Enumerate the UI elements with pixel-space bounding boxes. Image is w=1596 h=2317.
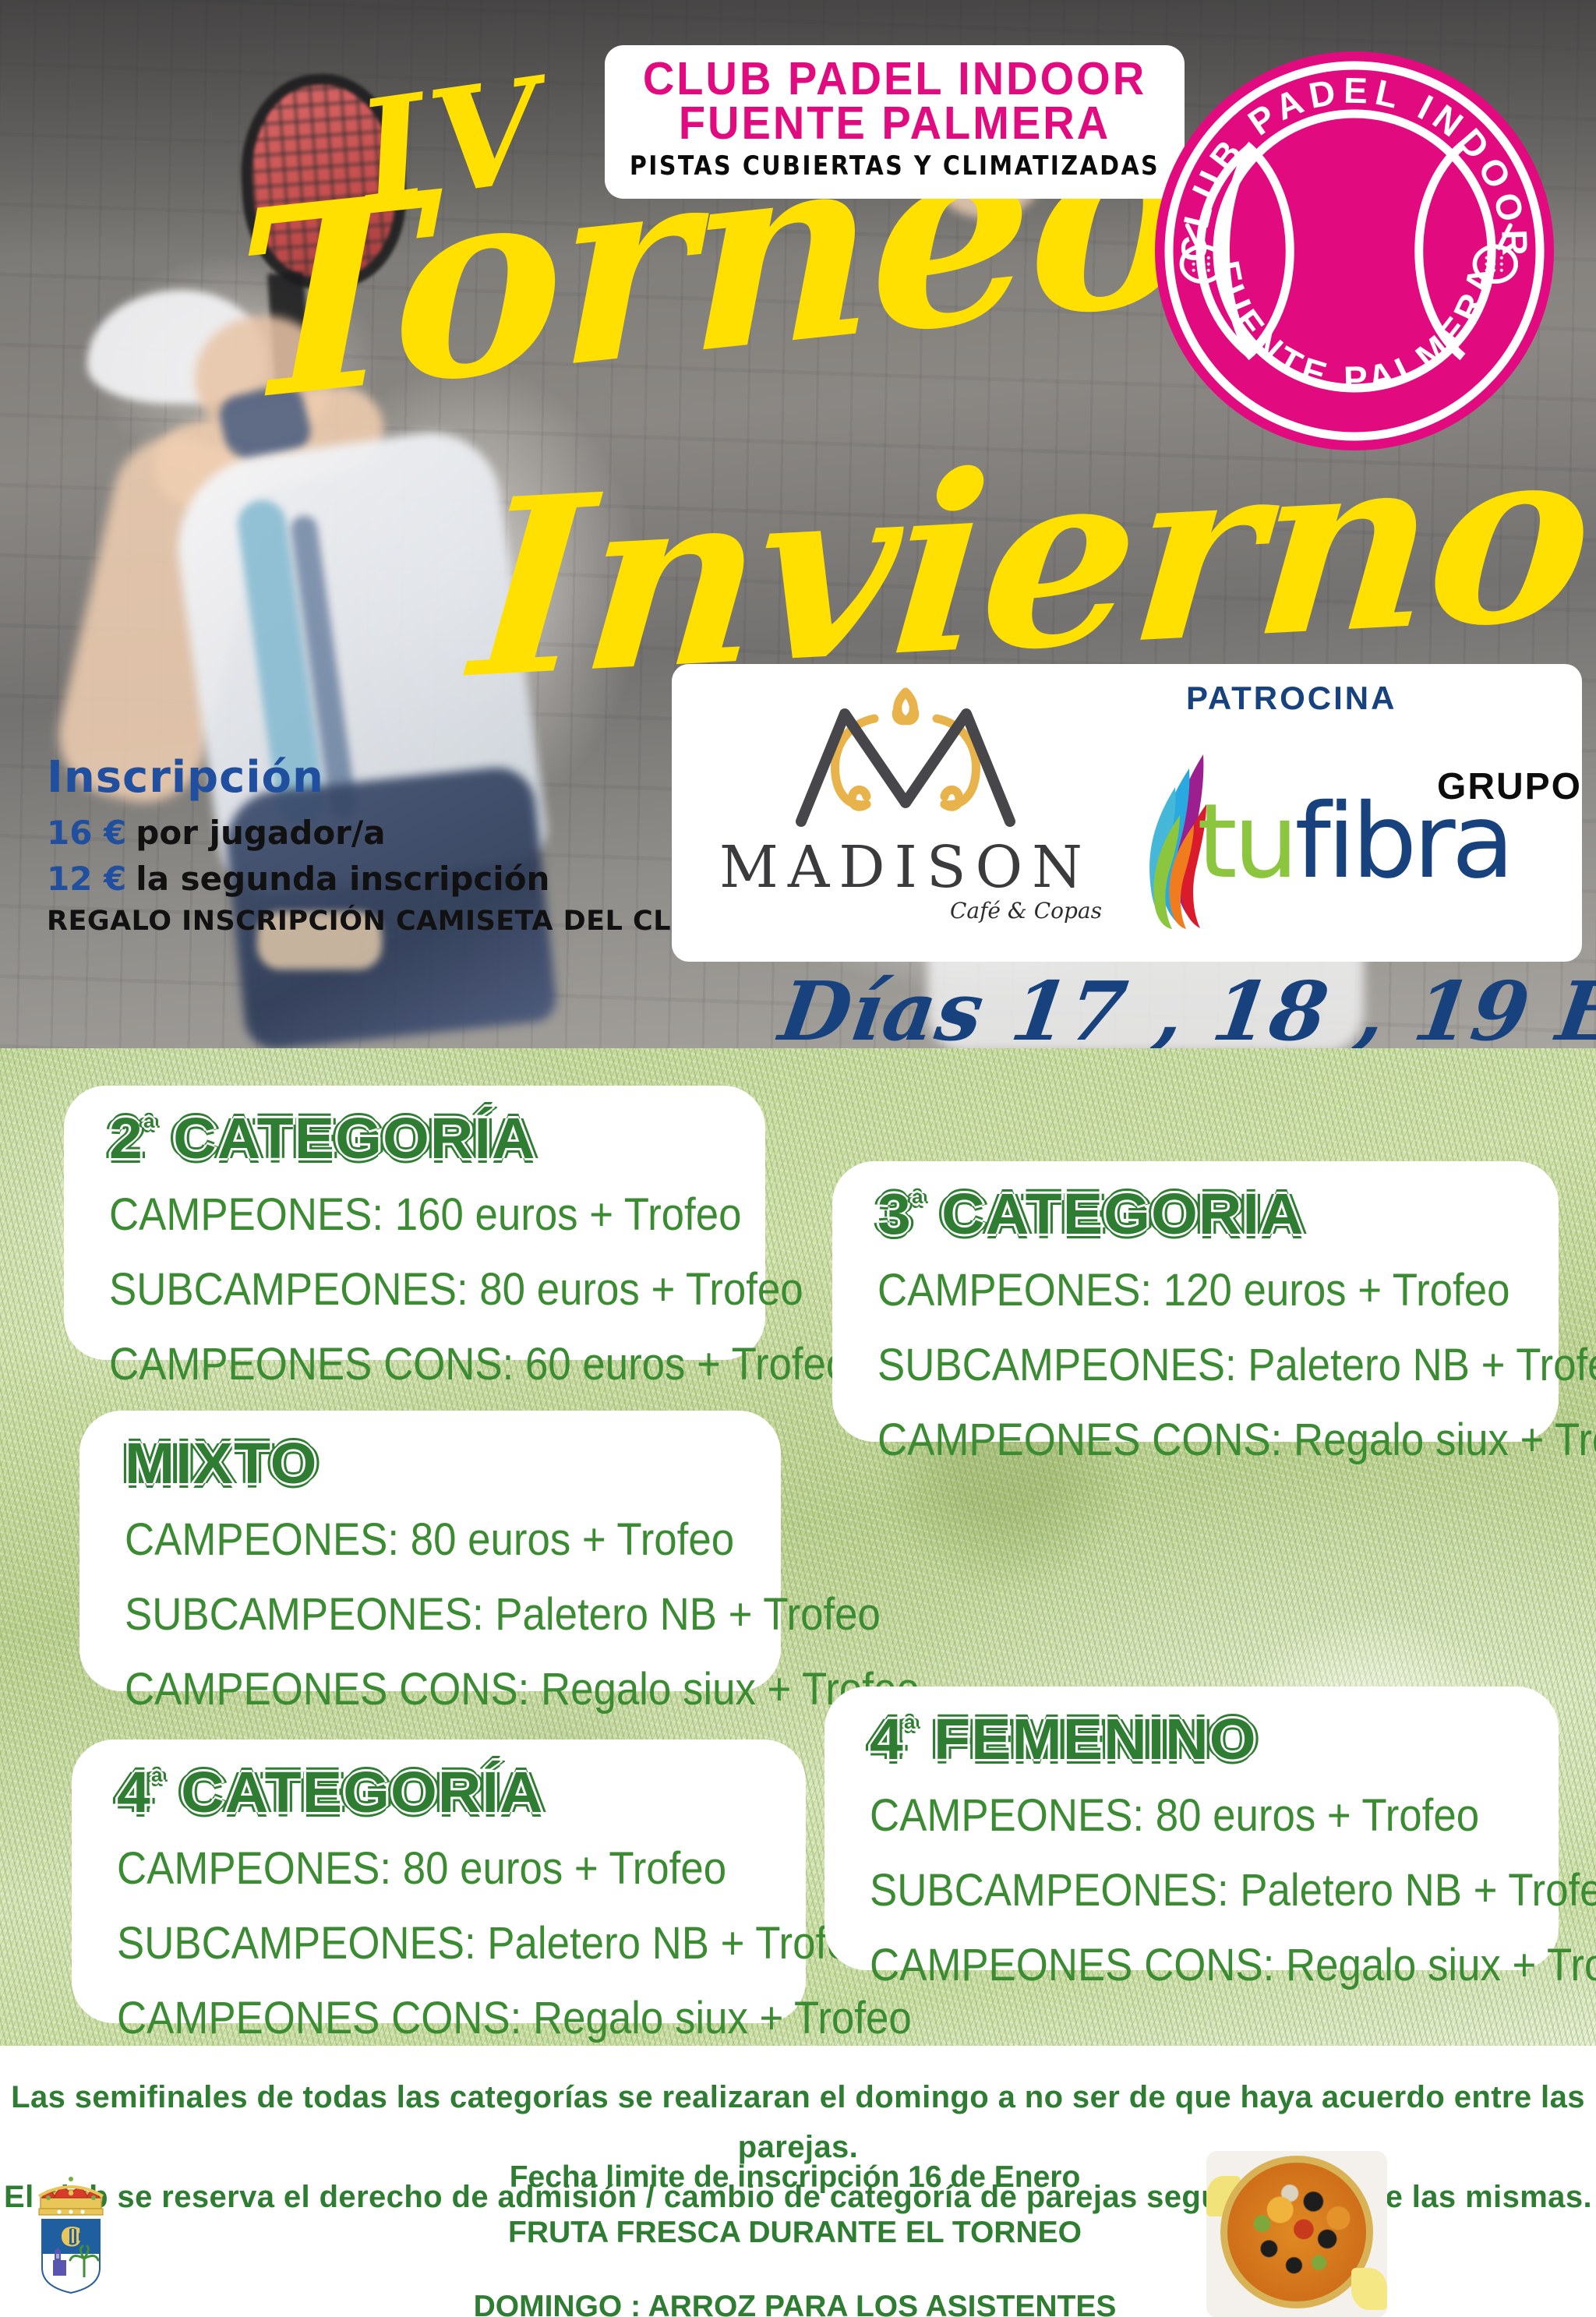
- inscription-row-1: 16 €por jugador/a: [47, 814, 584, 852]
- prize-line: SUBCAMPEONES: 80 euros + Trofeo: [109, 1264, 697, 1315]
- inscription-heading: Inscripción: [47, 752, 584, 803]
- category-card-4a-femenino: 4ª FEMENINO CAMPEONES: 80 euros + Trofeo…: [824, 1687, 1559, 1970]
- prize-line: CAMPEONES CONS: Regalo siux + Trofeo: [125, 1664, 713, 1715]
- inscription-text-2: la segunda inscripción: [136, 860, 549, 898]
- inscription-row-2: 12 €la segunda inscripción: [47, 860, 584, 898]
- tufibra-logo: tufibra GRUPO: [1128, 750, 1573, 945]
- prize-line: CAMPEONES CONS: Regalo siux + Trofeo: [870, 1940, 1489, 1990]
- footer-sunday-rice: DOMINGO : ARROZ PARA LOS ASISTENTES: [421, 2291, 1169, 2317]
- paella-photo: [1206, 2151, 1387, 2317]
- footer-deadline: Fecha limite de inscripción 16 de Enero: [421, 2161, 1169, 2195]
- paella-pan: [1220, 2156, 1373, 2308]
- hero-photo-section: IV Torneo Invierno CLUB PADEL INDOOR FUE…: [0, 0, 1596, 1048]
- category-title-3a: 3ª CATEGORIA: [877, 1185, 1541, 1243]
- category-card-4a: 4ª CATEGORÍA CAMPEONES: 80 euros + Trofe…: [72, 1740, 806, 2023]
- madison-wordmark: MADISON: [687, 839, 1124, 896]
- footer-info-block: Fecha limite de inscripción 16 de Enero …: [421, 2161, 1169, 2317]
- prize-line: CAMPEONES CONS: Regalo siux + Trofeo: [117, 1993, 736, 2043]
- club-name-line-1: CLUB PADEL INDOOR: [617, 55, 1172, 102]
- category-title-4a: 4ª CATEGORÍA: [117, 1763, 788, 1821]
- tufibra-grupo-label: GRUPO: [1437, 765, 1582, 808]
- category-title-2a: 2ª CATEGORÍA: [109, 1109, 746, 1167]
- prize-line: SUBCAMPEONES: Paletero NB + Trofeo: [117, 1918, 736, 1969]
- inscription-amount-1: 16 €: [47, 814, 126, 852]
- lemon-wedge: [1351, 2268, 1387, 2310]
- prize-line: CAMPEONES: 160 euros + Trofeo: [109, 1190, 697, 1241]
- category-title-mixto: MIXTO: [125, 1434, 761, 1492]
- club-name-box: CLUB PADEL INDOOR FUENTE PALMERA PISTAS …: [605, 45, 1185, 199]
- poster-root: IV Torneo Invierno CLUB PADEL INDOOR FUE…: [0, 0, 1596, 2317]
- footer-fruit: FRUTA FRESCA DURANTE EL TORNEO: [421, 2216, 1169, 2250]
- prize-line: SUBCAMPEONES: Paletero NB + Trofeo: [125, 1589, 713, 1640]
- prize-line: CAMPEONES: 80 euros + Trofeo: [117, 1844, 736, 1895]
- club-name-line-2: FUENTE PALMERA: [617, 99, 1172, 147]
- category-card-mixto: MIXTO CAMPEONES: 80 euros + Trofeo SUBCA…: [79, 1411, 781, 1691]
- prize-line: CAMPEONES: 120 euros + Trofeo: [877, 1266, 1489, 1316]
- prize-line: SUBCAMPEONES: Paletero NB + Trofeo: [877, 1340, 1489, 1390]
- inscription-amount-2: 12 €: [47, 860, 126, 898]
- tufibra-word-tu: tu: [1197, 782, 1294, 902]
- prize-line: CAMPEONES CONS: Regalo siux + Trofeo: [877, 1415, 1489, 1465]
- fuente-palmera-coat-of-arms-icon: C: [22, 2174, 120, 2301]
- club-tagline: PISTAS CUBIERTAS Y CLIMATIZADAS: [617, 151, 1172, 182]
- prize-line: CAMPEONES CONS: 60 euros + Trofeo: [109, 1339, 697, 1390]
- category-card-3a: 3ª CATEGORIA CAMPEONES: 120 euros + Trof…: [832, 1161, 1559, 1442]
- inscription-text-1: por jugador/a: [136, 814, 385, 852]
- inscription-block: Inscripción 16 €por jugador/a 12 €la seg…: [47, 752, 584, 937]
- madison-logo: MADISON Café & Copas: [687, 678, 1124, 951]
- madison-monogram-icon: [757, 678, 1054, 843]
- madison-tagline: Café & Copas: [687, 898, 1124, 924]
- prize-line: CAMPEONES: 80 euros + Trofeo: [125, 1515, 713, 1566]
- club-circular-logo-icon: CLUB PADEL INDOOR FUENTE PALMERA: [1152, 48, 1557, 454]
- sponsor-panel: PATROCINA MADISON Café: [672, 664, 1582, 962]
- patrocina-label: PATROCINA: [1186, 680, 1396, 717]
- prize-line: SUBCAMPEONES: Paletero NB + Trofeo: [870, 1865, 1489, 1916]
- inscription-gift-note: REGALO INSCRIPCIÓN CAMISETA DEL CLUB: [47, 906, 584, 937]
- tournament-dates: Días 17 , 18 , 19 Enero: [774, 963, 1596, 1048]
- category-card-2a: 2ª CATEGORÍA CAMPEONES: 160 euros + Trof…: [64, 1086, 765, 1360]
- category-title-4a-femenino: 4ª FEMENINO: [870, 1710, 1541, 1768]
- prize-line: CAMPEONES: 80 euros + Trofeo: [870, 1791, 1489, 1842]
